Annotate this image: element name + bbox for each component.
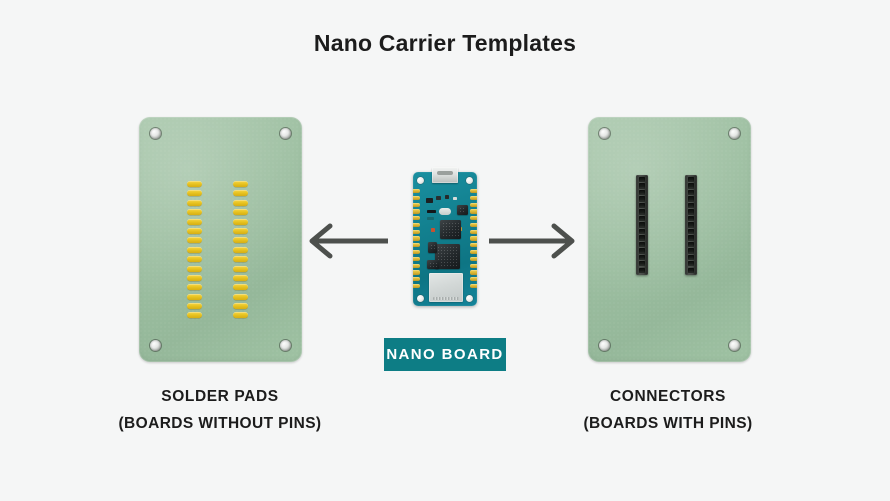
header-socket	[639, 216, 645, 221]
nano-edge-pad	[470, 243, 477, 247]
solder-pad	[233, 237, 248, 243]
mount-hole-icon	[729, 340, 740, 351]
solder-pad	[233, 284, 248, 290]
nano-edge-pad	[470, 257, 477, 261]
nano-edge-pad	[470, 230, 477, 234]
nano-edge-pad	[413, 284, 420, 288]
nano-corner-hole-icon	[466, 295, 473, 302]
mount-hole-icon	[150, 128, 161, 139]
nano-edge-pad	[413, 250, 420, 254]
header-socket	[688, 177, 694, 182]
header-socket	[639, 209, 645, 214]
nano-edge-pad	[413, 270, 420, 274]
header-socket	[639, 235, 645, 240]
header-socket	[639, 196, 645, 201]
header-socket	[688, 222, 694, 227]
solder-pad	[233, 228, 248, 234]
smd-component	[445, 195, 449, 199]
caption-solder-pads: SOLDER PADS (BOARDS WITHOUT PINS)	[55, 388, 385, 433]
solder-pad	[187, 303, 202, 309]
smd-component	[427, 210, 436, 213]
solder-pad	[233, 294, 248, 300]
header-socket	[639, 242, 645, 247]
nano-edge-pad	[413, 196, 420, 200]
solder-pad	[187, 190, 202, 196]
nano-board-badge: NANO BOARD	[384, 338, 506, 371]
nano-edge-pad	[470, 236, 477, 240]
smd-component	[426, 198, 433, 203]
nano-edge-pad	[470, 264, 477, 268]
solder-pad	[233, 181, 248, 187]
header-socket	[688, 183, 694, 188]
solder-pad	[187, 247, 202, 253]
mount-hole-icon	[729, 128, 740, 139]
header-socket	[688, 255, 694, 260]
nano-edge-pad	[470, 209, 477, 213]
nano-edge-pad	[413, 216, 420, 220]
solder-pad-column-right	[233, 181, 248, 318]
ic-chip	[428, 242, 437, 253]
header-socket	[688, 248, 694, 253]
smd-component	[431, 228, 435, 232]
solder-pad	[187, 275, 202, 281]
usb-c-connector-icon	[432, 167, 458, 183]
nano-edge-pad	[413, 223, 420, 227]
nano-edge-pad	[413, 257, 420, 261]
header-socket	[639, 203, 645, 208]
mount-hole-icon	[599, 128, 610, 139]
page-title: Nano Carrier Templates	[0, 30, 890, 57]
solder-pad	[233, 200, 248, 206]
nano-edge-pad	[470, 189, 477, 193]
solder-pad	[233, 219, 248, 225]
nano-edge-pad	[470, 270, 477, 274]
nano-edge-pad	[413, 203, 420, 207]
header-socket	[639, 268, 645, 273]
caption-solder-pads-subtitle: (BOARDS WITHOUT PINS)	[55, 415, 385, 433]
header-socket	[688, 190, 694, 195]
header-socket	[639, 248, 645, 253]
solder-pad	[233, 303, 248, 309]
solder-pad	[187, 200, 202, 206]
nano-edge-pad	[413, 277, 420, 281]
connectors-carrier-board	[588, 117, 751, 362]
nano-castellated-pads-left	[413, 189, 420, 288]
solder-pad	[233, 275, 248, 281]
female-header-strip-left	[636, 175, 648, 275]
solder-pads-carrier-board	[139, 117, 302, 362]
solder-pad	[233, 256, 248, 262]
mount-hole-icon	[599, 340, 610, 351]
header-socket	[639, 222, 645, 227]
mount-hole-icon	[280, 340, 291, 351]
rf-shield-module	[429, 273, 463, 302]
nano-edge-pad	[470, 203, 477, 207]
diagram-canvas: Nano Carrier Templates	[0, 0, 890, 501]
nano-corner-hole-icon	[466, 177, 473, 184]
header-socket	[688, 209, 694, 214]
female-header-strip-right	[685, 175, 697, 275]
solder-pad	[187, 284, 202, 290]
caption-solder-pads-title: SOLDER PADS	[55, 388, 385, 406]
nano-edge-pad	[413, 243, 420, 247]
header-socket	[639, 255, 645, 260]
nano-edge-pad	[413, 236, 420, 240]
solder-pad	[187, 219, 202, 225]
solder-pad	[233, 247, 248, 253]
header-socket	[639, 190, 645, 195]
solder-pad	[187, 209, 202, 215]
solder-pad	[187, 294, 202, 300]
nano-edge-pad	[470, 223, 477, 227]
header-socket	[688, 242, 694, 247]
solder-pad	[187, 312, 202, 318]
smd-component	[439, 208, 451, 215]
solder-pad	[233, 190, 248, 196]
header-socket	[688, 261, 694, 266]
arrow-right-icon	[487, 222, 580, 260]
header-socket	[688, 203, 694, 208]
arrow-left-icon	[304, 222, 390, 260]
header-socket	[639, 177, 645, 182]
mount-hole-icon	[150, 340, 161, 351]
nano-castellated-pads-right	[470, 189, 477, 288]
nano-edge-pad	[413, 209, 420, 213]
solder-pad	[187, 181, 202, 187]
solder-pad	[233, 209, 248, 215]
caption-connectors: CONNECTORS (BOARDS WITH PINS)	[503, 388, 833, 433]
header-socket	[688, 216, 694, 221]
caption-connectors-title: CONNECTORS	[503, 388, 833, 406]
nano-edge-pad	[413, 264, 420, 268]
nano-edge-pad	[413, 230, 420, 234]
arduino-nano-board	[413, 172, 477, 306]
nano-edge-pad	[470, 284, 477, 288]
smd-component	[427, 217, 434, 220]
nano-edge-pad	[470, 250, 477, 254]
microcontroller-chip	[440, 220, 461, 239]
ic-chip	[427, 260, 439, 269]
nano-corner-hole-icon	[417, 295, 424, 302]
nano-edge-pad	[470, 277, 477, 281]
nano-edge-pad	[470, 216, 477, 220]
header-socket	[688, 196, 694, 201]
mount-hole-icon	[280, 128, 291, 139]
header-socket	[639, 261, 645, 266]
solder-pad-column-left	[187, 181, 202, 318]
solder-pad	[187, 266, 202, 272]
solder-pad	[187, 237, 202, 243]
smd-component	[436, 196, 441, 200]
header-socket	[688, 268, 694, 273]
nano-edge-pad	[470, 196, 477, 200]
solder-pad	[187, 256, 202, 262]
ic-chip	[457, 205, 468, 215]
nano-edge-pad	[413, 189, 420, 193]
nano-corner-hole-icon	[417, 177, 424, 184]
smd-component	[453, 197, 457, 200]
header-socket	[688, 229, 694, 234]
caption-connectors-subtitle: (BOARDS WITH PINS)	[503, 415, 833, 433]
header-socket	[639, 183, 645, 188]
solder-pad	[187, 228, 202, 234]
solder-pad	[233, 312, 248, 318]
solder-pad	[233, 266, 248, 272]
header-socket	[639, 229, 645, 234]
header-socket	[688, 235, 694, 240]
